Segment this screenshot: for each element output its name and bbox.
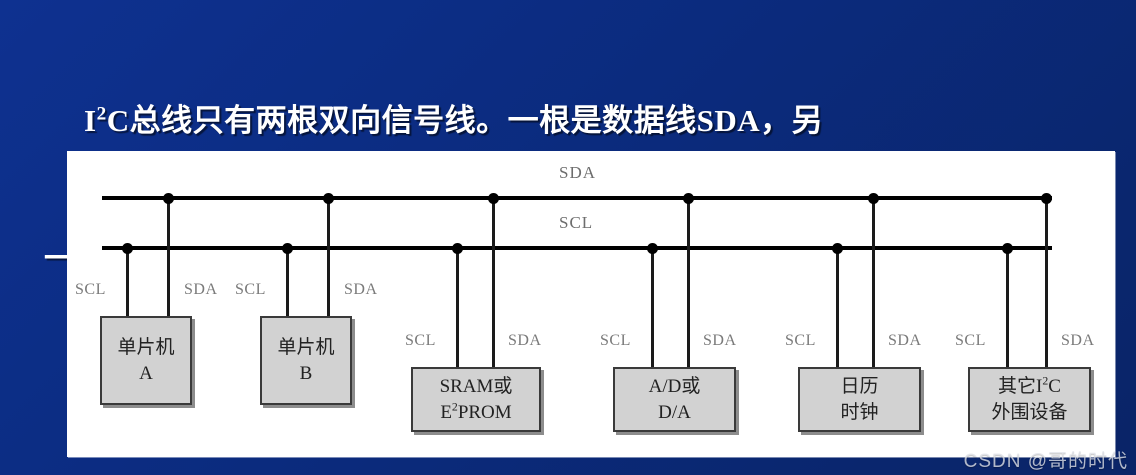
device-label-line-2: D/A: [658, 400, 691, 426]
scl-pin-label-device-2: SCL: [235, 281, 266, 299]
sda-node-dot-device-1: [163, 193, 174, 204]
device-box-calendar-clock[interactable]: 日历 时钟: [798, 367, 921, 432]
scl-pin-label-device-3: SCL: [405, 332, 436, 350]
device-box-adc-dac[interactable]: A/D或 D/A: [613, 367, 736, 432]
page-title-line-1: I2C总线只有两根双向信号线。一根是数据线SDA，另: [44, 98, 1114, 144]
scl-node-dot-device-6: [1002, 243, 1013, 254]
device-label-line-1: SRAM或: [440, 374, 513, 400]
device-label-line-2: A: [139, 361, 153, 387]
scl-node-dot-device-1: [122, 243, 133, 254]
sda-drop-device-4: [687, 200, 690, 373]
sda-node-dot-device-2: [323, 193, 334, 204]
device-label-line-1: 单片机: [277, 335, 334, 361]
sda-node-dot-device-3: [488, 193, 499, 204]
scl-bus-line: [102, 246, 1052, 250]
eeprom-prefix: E: [440, 402, 452, 423]
scl-node-dot-device-4: [647, 243, 658, 254]
diagram-canvas: SDA SCL SCL SDA 单片机 A SCL SDA 单片机: [67, 151, 1115, 457]
sda-node-dot-device-6: [1041, 193, 1052, 204]
scl-node-dot-device-5: [832, 243, 843, 254]
scl-node-dot-device-3: [452, 243, 463, 254]
device-box-other-i2c-peripheral[interactable]: 其它I2C 外围设备: [968, 367, 1091, 432]
sda-drop-device-3: [492, 200, 495, 373]
device-label-line-1: 其它I2C: [998, 374, 1061, 400]
device-label-line-1: A/D或: [649, 374, 701, 400]
sda-pin-label-device-3: SDA: [508, 332, 542, 350]
device-label-line-2: B: [300, 361, 313, 387]
scl-pin-label-device-4: SCL: [600, 332, 631, 350]
scl-node-dot-device-2: [282, 243, 293, 254]
slide-canvas: I2C总线只有两根双向信号线。一根是数据线SDA，另 一根是时钟线SCL。 SD…: [0, 0, 1136, 475]
device-label-line-1: 日历: [840, 374, 878, 400]
sda-node-dot-device-4: [683, 193, 694, 204]
other-i2c-prefix: 其它I: [998, 376, 1042, 397]
scl-drop-device-6: [1006, 250, 1009, 373]
device-box-mcu-a[interactable]: 单片机 A: [100, 316, 192, 405]
sda-pin-label-device-1: SDA: [184, 281, 218, 299]
sda-pin-label-device-2: SDA: [344, 281, 378, 299]
sda-bus-label: SDA: [559, 163, 596, 183]
scl-pin-label-device-5: SCL: [785, 332, 816, 350]
title-i-char: I: [84, 103, 97, 138]
device-label-line-2: 外围设备: [991, 400, 1067, 426]
device-label-line-2: 时钟: [840, 400, 878, 426]
sda-pin-label-device-4: SDA: [703, 332, 737, 350]
other-i2c-suffix: C: [1048, 376, 1061, 397]
scl-pin-label-device-6: SCL: [955, 332, 986, 350]
title-line-1-rest: C总线只有两根双向信号线。一根是数据线SDA，另: [107, 103, 823, 138]
device-label-line-1: 单片机: [117, 335, 174, 361]
sda-drop-device-6: [1045, 200, 1048, 373]
device-label-line-2: E2PROM: [440, 400, 511, 426]
sda-node-dot-device-5: [868, 193, 879, 204]
diagram-panel: SDA SCL SCL SDA 单片机 A SCL SDA 单片机: [67, 151, 1115, 457]
device-box-mcu-b[interactable]: 单片机 B: [260, 316, 352, 405]
device-box-sram-eeprom[interactable]: SRAM或 E2PROM: [411, 367, 541, 432]
scl-drop-device-4: [651, 250, 654, 373]
scl-drop-device-5: [836, 250, 839, 373]
sda-drop-device-5: [872, 200, 875, 373]
scl-pin-label-device-1: SCL: [75, 281, 106, 299]
eeprom-suffix: PROM: [458, 402, 512, 423]
scl-bus-label: SCL: [559, 213, 593, 233]
title-superscript-2: 2: [97, 104, 107, 125]
sda-pin-label-device-5: SDA: [888, 332, 922, 350]
sda-pin-label-device-6: SDA: [1061, 332, 1095, 350]
sda-bus-line: [102, 196, 1052, 200]
scl-drop-device-3: [456, 250, 459, 373]
